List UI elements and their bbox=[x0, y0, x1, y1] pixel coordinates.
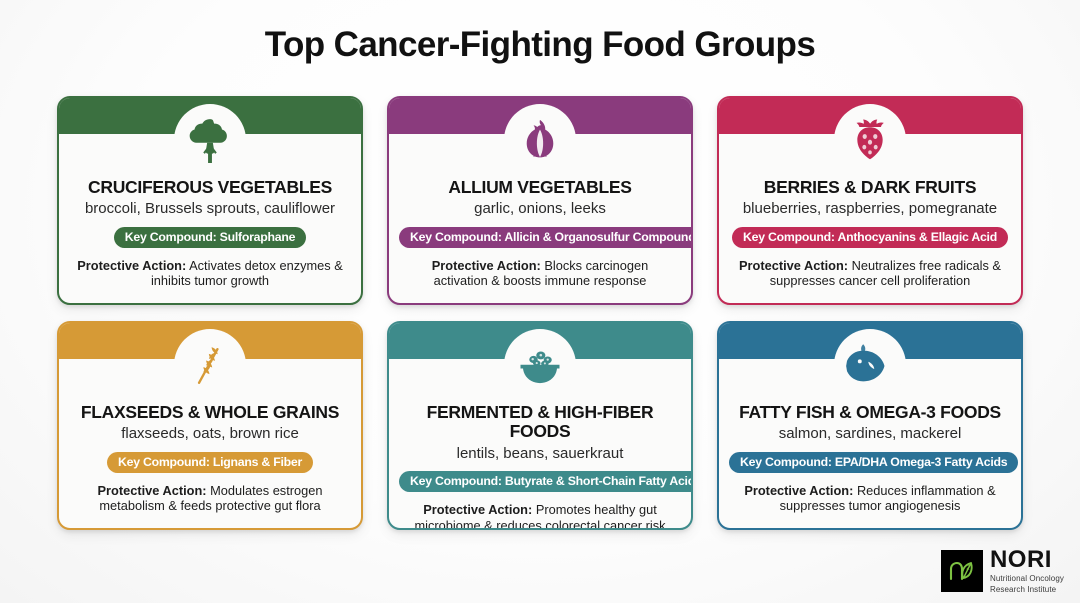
food-group-card: ALLIUM VEGETABLES garlic, onions, leeks … bbox=[387, 96, 693, 305]
nori-logo-name: NORI bbox=[990, 548, 1064, 572]
protective-action: Protective Action: Blocks carcinogen act… bbox=[399, 258, 681, 290]
food-group-card: FATTY FISH & OMEGA-3 FOODS salmon, sardi… bbox=[717, 321, 1023, 530]
key-compound-badge: Key Compound: EPA/DHA Omega-3 Fatty Acid… bbox=[729, 452, 1018, 473]
card-title: FLAXSEEDS & WHOLE GRAINS bbox=[69, 403, 351, 422]
card-title: BERRIES & DARK FRUITS bbox=[729, 178, 1011, 197]
fish-icon bbox=[841, 337, 899, 395]
nori-logo-subtitle-line2: Research Institute bbox=[990, 585, 1064, 595]
card-title: CRUCIFEROUS VEGETABLES bbox=[69, 178, 351, 197]
protective-action: Protective Action: Modulates estrogen me… bbox=[69, 483, 351, 515]
card-examples: garlic, onions, leeks bbox=[399, 200, 681, 217]
nori-logo-subtitle-line1: Nutritional Oncology bbox=[990, 574, 1064, 584]
page-title: Top Cancer-Fighting Food Groups bbox=[0, 0, 1080, 64]
protective-action-label: Protective Action: bbox=[744, 483, 853, 498]
raspberry-icon bbox=[841, 112, 899, 170]
key-compound-badge: Key Compound: Butyrate & Short-Chain Fat… bbox=[399, 471, 693, 492]
protective-action: Protective Action: Activates detox enzym… bbox=[69, 258, 351, 290]
protective-action: Protective Action: Neutralizes free radi… bbox=[729, 258, 1011, 290]
protective-action-label: Protective Action: bbox=[423, 502, 532, 517]
card-title: FATTY FISH & OMEGA-3 FOODS bbox=[729, 403, 1011, 422]
broccoli-icon bbox=[181, 112, 239, 170]
card-examples: flaxseeds, oats, brown rice bbox=[69, 425, 351, 442]
card-examples: salmon, sardines, mackerel bbox=[729, 425, 1011, 442]
protective-action: Protective Action: Promotes healthy gut … bbox=[399, 502, 681, 530]
food-group-card: BERRIES & DARK FRUITS blueberries, raspb… bbox=[717, 96, 1023, 305]
key-compound-badge: Key Compound: Sulforaphane bbox=[114, 227, 306, 248]
key-compound-badge: Key Compound: Anthocyanins & Ellagic Aci… bbox=[732, 227, 1008, 248]
card-examples: blueberries, raspberries, pomegranate bbox=[729, 200, 1011, 217]
card-examples: broccoli, Brussels sprouts, cauliflower bbox=[69, 200, 351, 217]
protective-action-label: Protective Action: bbox=[77, 258, 186, 273]
food-group-card: FLAXSEEDS & WHOLE GRAINS flaxseeds, oats… bbox=[57, 321, 363, 530]
protective-action-label: Protective Action: bbox=[739, 258, 848, 273]
wheat-stalk-icon bbox=[181, 337, 239, 395]
food-group-card: FERMENTED & HIGH-FIBER FOODS lentils, be… bbox=[387, 321, 693, 530]
key-compound-badge: Key Compound: Lignans & Fiber bbox=[107, 452, 313, 473]
nori-logo-text: NORI Nutritional Oncology Research Insti… bbox=[990, 548, 1064, 595]
protective-action: Protective Action: Reduces inflammation … bbox=[729, 483, 1011, 515]
protective-action-label: Protective Action: bbox=[98, 483, 207, 498]
protective-action-label: Protective Action: bbox=[432, 258, 541, 273]
nori-logo-mark: 2 bbox=[941, 550, 983, 592]
food-group-card: CRUCIFEROUS VEGETABLES broccoli, Brussel… bbox=[57, 96, 363, 305]
bowl-of-food-icon bbox=[511, 337, 569, 395]
nori-logo: 2 NORI Nutritional Oncology Research Ins… bbox=[941, 548, 1064, 595]
garlic-bulb-icon bbox=[511, 112, 569, 170]
card-examples: lentils, beans, sauerkraut bbox=[399, 445, 681, 462]
key-compound-badge: Key Compound: Allicin & Organosulfur Com… bbox=[399, 227, 693, 248]
food-group-card-grid: CRUCIFEROUS VEGETABLES broccoli, Brussel… bbox=[57, 96, 1023, 530]
card-title: ALLIUM VEGETABLES bbox=[399, 178, 681, 197]
card-title: FERMENTED & HIGH-FIBER FOODS bbox=[399, 403, 681, 442]
